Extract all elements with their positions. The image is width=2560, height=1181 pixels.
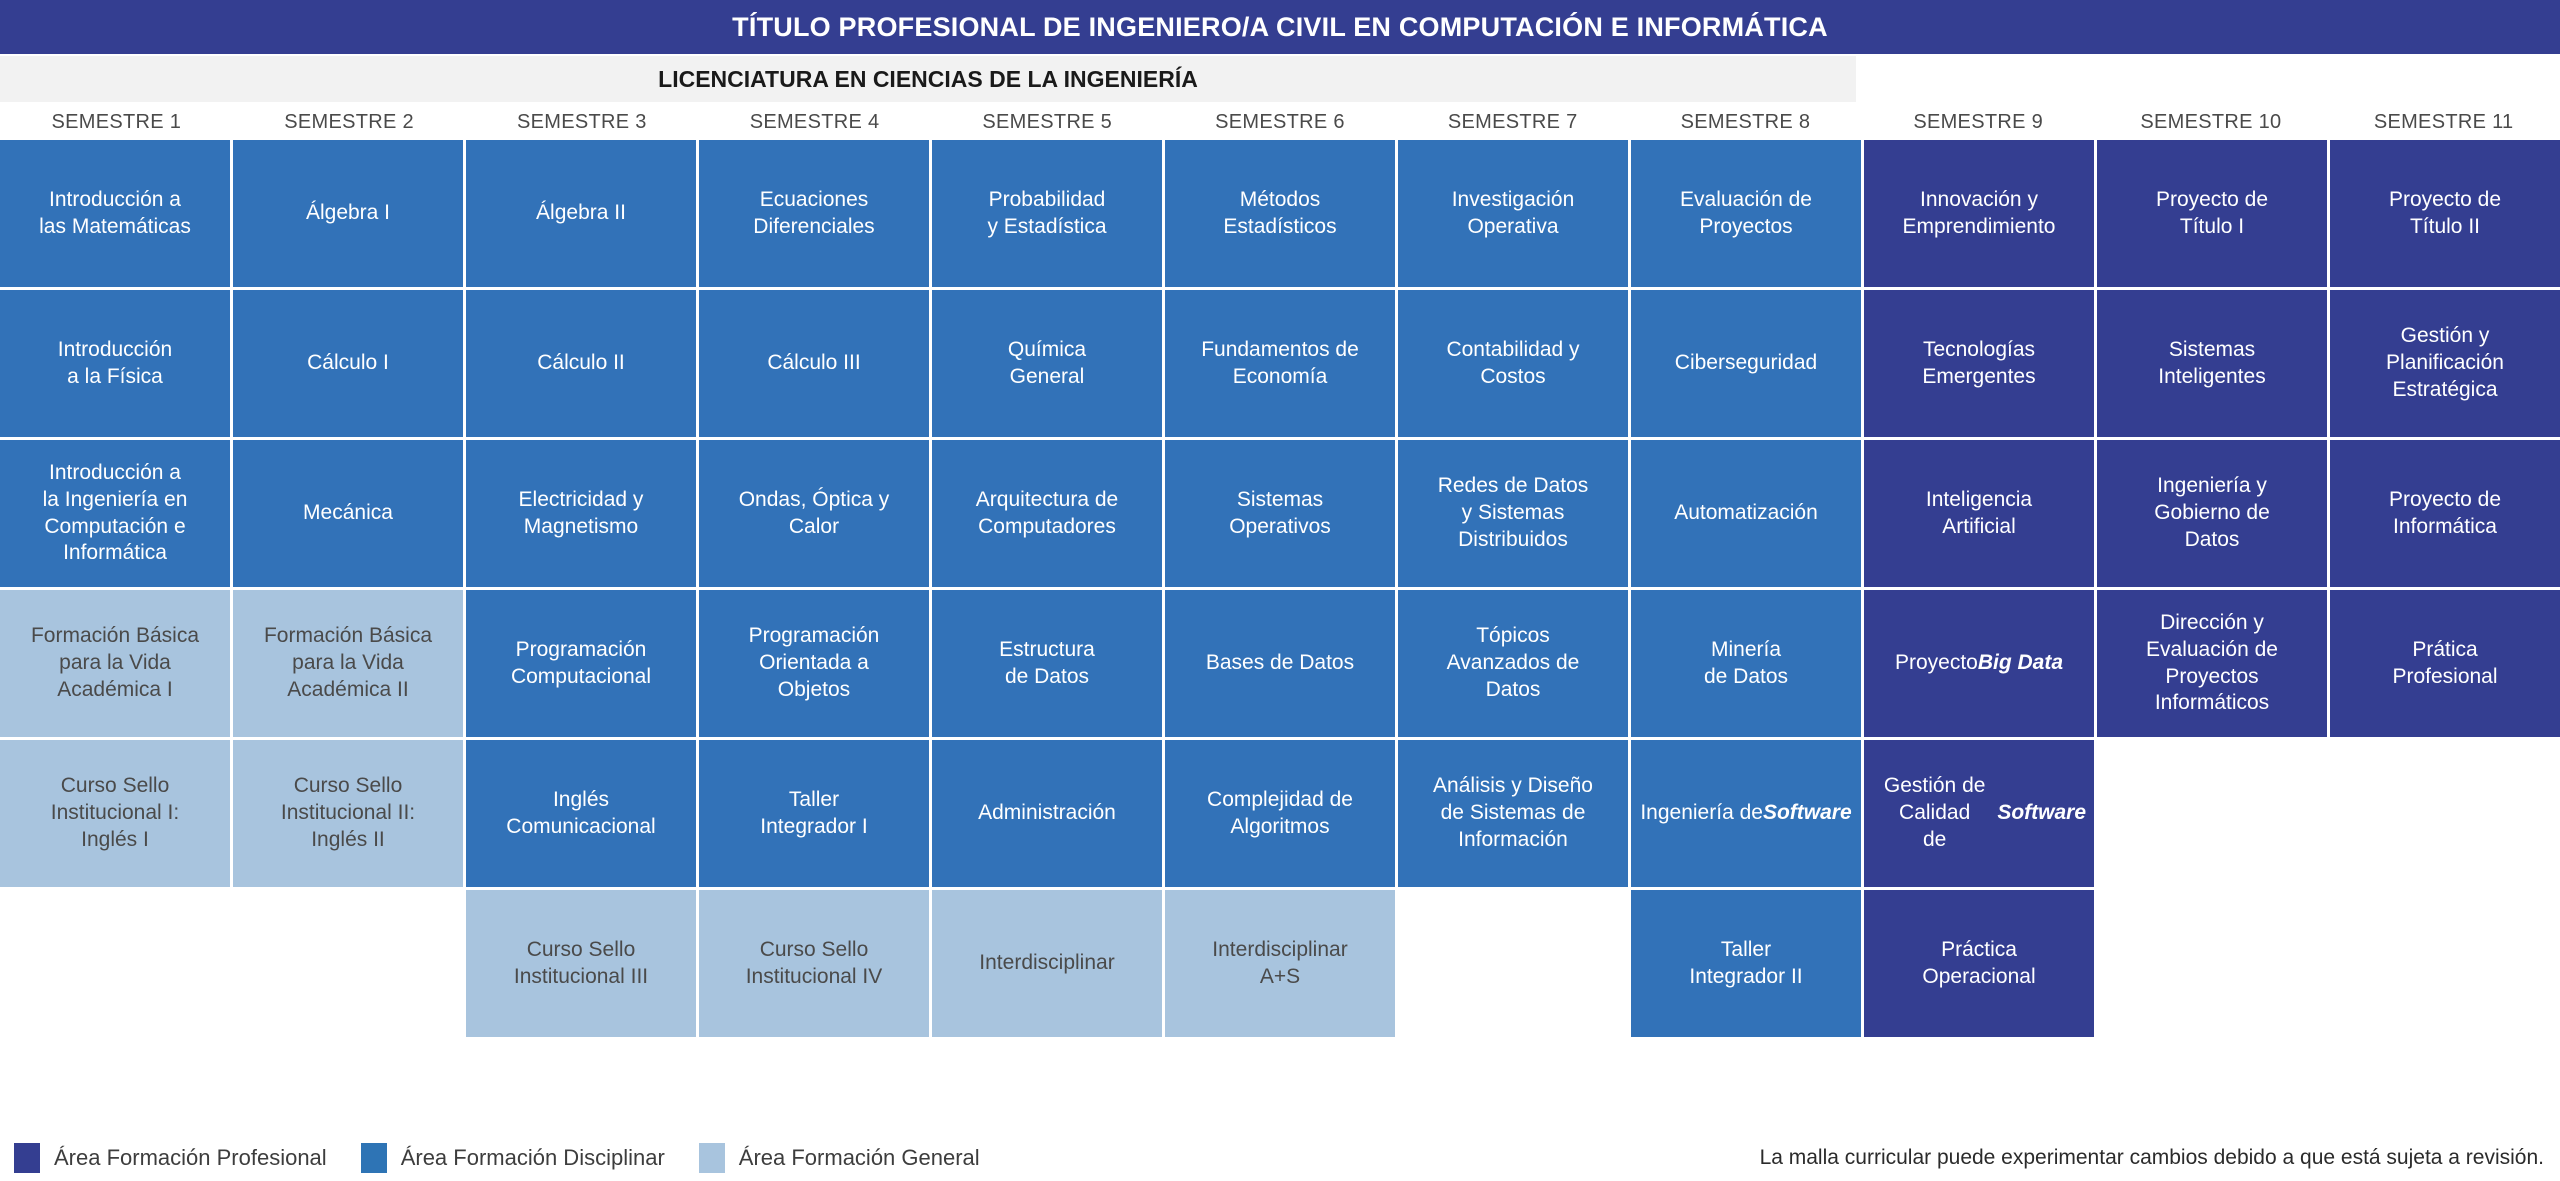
course-cell[interactable]: Fundamentos deEconomía [1165, 290, 1395, 437]
course-cell[interactable]: Proyecto deTítulo II [2330, 140, 2560, 287]
course-cell[interactable]: Proyecto deTítulo I [2097, 140, 2327, 287]
course-cell[interactable]: Ingeniería yGobierno deDatos [2097, 440, 2327, 587]
course-cell-empty [233, 890, 463, 1037]
course-cell-empty [2097, 740, 2327, 887]
semester-header-1: SEMESTRE 1 [0, 104, 233, 140]
course-cell[interactable]: Cálculo I [233, 290, 463, 437]
semester-header-11: SEMESTRE 11 [2327, 104, 2560, 140]
course-cell[interactable]: InteligenciaArtificial [1864, 440, 2094, 587]
course-cell[interactable]: Evaluación deProyectos [1631, 140, 1861, 287]
course-cell[interactable]: Electricidad yMagnetismo [466, 440, 696, 587]
course-cell[interactable]: Curso SelloInstitucional III [466, 890, 696, 1037]
course-cell[interactable]: InterdisciplinarA+S [1165, 890, 1395, 1037]
course-cell[interactable]: Arquitectura deComputadores [932, 440, 1162, 587]
course-cell[interactable]: InvestigaciónOperativa [1398, 140, 1628, 287]
semester-header-10: SEMESTRE 10 [2095, 104, 2328, 140]
course-cell[interactable]: PráticaProfesional [2330, 590, 2560, 737]
course-cell[interactable]: Innovación yEmprendimiento [1864, 140, 2094, 287]
course-cell-empty [1398, 890, 1628, 1037]
legend-label: Área Formación Profesional [54, 1147, 327, 1169]
course-cell[interactable]: Cálculo II [466, 290, 696, 437]
course-cell[interactable]: Introducción ala Ingeniería enComputació… [0, 440, 230, 587]
course-cell[interactable]: Formación Básicapara la VidaAcadémica I [0, 590, 230, 737]
page-title: TÍTULO PROFESIONAL DE INGENIERO/A CIVIL … [732, 14, 1828, 41]
course-cell[interactable]: Introduccióna la Física [0, 290, 230, 437]
legend-swatch-icon [14, 1143, 40, 1173]
semester-header-2: SEMESTRE 2 [233, 104, 466, 140]
legend-label: Área Formación General [739, 1147, 980, 1169]
course-cell[interactable]: Gestión de Calidadde Software [1864, 740, 2094, 887]
course-cell[interactable]: Interdisciplinar [932, 890, 1162, 1037]
course-cell[interactable]: Análisis y Diseñode Sistemas deInformaci… [1398, 740, 1628, 887]
course-cell[interactable]: Curso SelloInstitucional I:Inglés I [0, 740, 230, 887]
degree-subtitle-bar: LICENCIATURA EN CIENCIAS DE LA INGENIERÍ… [0, 56, 1856, 102]
semester-header-8: SEMESTRE 8 [1629, 104, 1862, 140]
legend-swatch-icon [699, 1143, 725, 1173]
semester-header-4: SEMESTRE 4 [698, 104, 931, 140]
course-cell[interactable]: Administración [932, 740, 1162, 887]
course-cell[interactable]: EcuacionesDiferenciales [699, 140, 929, 287]
course-cell-empty [0, 890, 230, 1037]
course-cell[interactable]: TallerIntegrador II [1631, 890, 1861, 1037]
semester-header-3: SEMESTRE 3 [465, 104, 698, 140]
semester-header-row: SEMESTRE 1SEMESTRE 2SEMESTRE 3SEMESTRE 4… [0, 104, 2560, 140]
course-cell[interactable]: TópicosAvanzados deDatos [1398, 590, 1628, 737]
course-cell[interactable]: Redes de Datosy SistemasDistribuidos [1398, 440, 1628, 587]
semester-header-6: SEMESTRE 6 [1164, 104, 1397, 140]
course-cell[interactable]: Curso SelloInstitucional II:Inglés II [233, 740, 463, 887]
legend-item-2: Área Formación Disciplinar [361, 1143, 665, 1173]
course-cell[interactable]: Álgebra II [466, 140, 696, 287]
legend-item-1: Área Formación Profesional [14, 1143, 327, 1173]
course-cell[interactable]: Mecánica [233, 440, 463, 587]
course-cell[interactable]: Probabilidady Estadística [932, 140, 1162, 287]
course-grid: Introducción alas MatemáticasÁlgebra IÁl… [0, 140, 2560, 1037]
course-cell[interactable]: Cálculo III [699, 290, 929, 437]
course-cell[interactable]: QuímicaGeneral [932, 290, 1162, 437]
course-cell[interactable]: Automatización [1631, 440, 1861, 587]
course-cell[interactable]: SistemasInteligentes [2097, 290, 2327, 437]
course-cell[interactable]: Dirección yEvaluación deProyectosInformá… [2097, 590, 2327, 737]
course-cell[interactable]: Estructurade Datos [932, 590, 1162, 737]
course-cell[interactable]: TallerIntegrador I [699, 740, 929, 887]
course-cell[interactable]: Introducción alas Matemáticas [0, 140, 230, 287]
course-cell[interactable]: MétodosEstadísticos [1165, 140, 1395, 287]
footnote: La malla curricular puede experimentar c… [1760, 1147, 2544, 1168]
course-cell[interactable]: InglésComunicacional [466, 740, 696, 887]
legend-item-3: Área Formación General [699, 1143, 980, 1173]
course-cell-empty [2330, 740, 2560, 887]
course-cell[interactable]: Ciberseguridad [1631, 290, 1861, 437]
legend: Área Formación ProfesionalÁrea Formación… [14, 1143, 1014, 1173]
semester-header-7: SEMESTRE 7 [1396, 104, 1629, 140]
legend-label: Área Formación Disciplinar [401, 1147, 665, 1169]
course-cell[interactable]: Ondas, Óptica yCalor [699, 440, 929, 587]
course-cell[interactable]: Proyecto deInformática [2330, 440, 2560, 587]
course-cell[interactable]: TecnologíasEmergentes [1864, 290, 2094, 437]
course-cell[interactable]: ProgramaciónComputacional [466, 590, 696, 737]
page-subtitle: LICENCIATURA EN CIENCIAS DE LA INGENIERÍ… [658, 68, 1198, 91]
course-cell[interactable]: ProgramaciónOrientada aObjetos [699, 590, 929, 737]
course-cell[interactable]: Mineríade Datos [1631, 590, 1861, 737]
course-cell[interactable]: Álgebra I [233, 140, 463, 287]
course-cell[interactable]: Curso SelloInstitucional IV [699, 890, 929, 1037]
course-cell[interactable]: Complejidad deAlgoritmos [1165, 740, 1395, 887]
semester-header-9: SEMESTRE 9 [1862, 104, 2095, 140]
course-cell[interactable]: Gestión yPlanificaciónEstratégica [2330, 290, 2560, 437]
legend-swatch-icon [361, 1143, 387, 1173]
curriculum-map: TÍTULO PROFESIONAL DE INGENIERO/A CIVIL … [0, 0, 2560, 1181]
course-cell[interactable]: Ingeniería deSoftware [1631, 740, 1861, 887]
course-cell[interactable]: Formación Básicapara la VidaAcadémica II [233, 590, 463, 737]
course-cell[interactable]: Bases de Datos [1165, 590, 1395, 737]
degree-title-bar: TÍTULO PROFESIONAL DE INGENIERO/A CIVIL … [0, 0, 2560, 54]
semester-header-5: SEMESTRE 5 [931, 104, 1164, 140]
course-cell-empty [2330, 890, 2560, 1037]
course-cell[interactable]: Contabilidad yCostos [1398, 290, 1628, 437]
course-cell-empty [2097, 890, 2327, 1037]
course-cell[interactable]: PrácticaOperacional [1864, 890, 2094, 1037]
course-cell[interactable]: ProyectoBig Data [1864, 590, 2094, 737]
course-cell[interactable]: SistemasOperativos [1165, 440, 1395, 587]
